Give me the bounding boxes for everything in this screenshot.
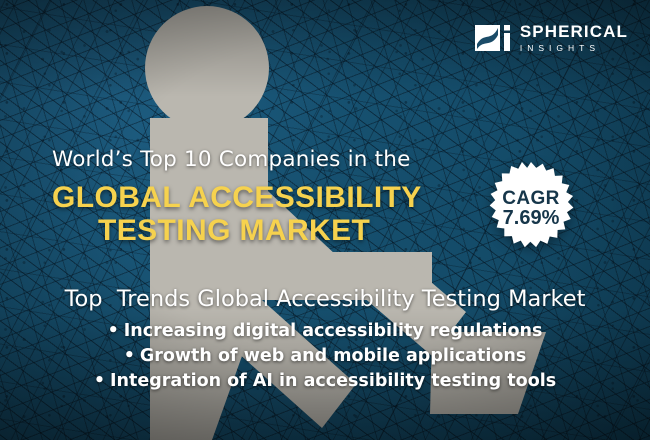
trends-bullet-list: •Increasing digital accessibility regula… (0, 321, 650, 391)
list-item-label: Integration of AI in accessibility testi… (110, 371, 556, 391)
headline-title-line1: GLOBAL ACCESSIBILITY (52, 181, 422, 214)
brand-subtitle: INSIGHTS (520, 44, 628, 53)
list-item-label: Increasing digital accessibility regulat… (124, 321, 543, 341)
brand-logo[interactable]: SPHERICAL INSIGHTS (475, 22, 628, 54)
brand-logo-text: SPHERICAL INSIGHTS (520, 23, 628, 53)
headline-block: World’s Top 10 Companies in the GLOBAL A… (52, 148, 472, 248)
trends-section: Top Trends Global Accessibility Testing … (0, 286, 650, 391)
list-item: •Integration of AI in accessibility test… (94, 371, 556, 391)
list-item: •Increasing digital accessibility regula… (108, 321, 543, 341)
cagr-badge-text: CAGR 7.69% (484, 162, 578, 256)
list-item-label: Growth of web and mobile applications (140, 346, 526, 366)
cagr-value: 7.69% (503, 208, 560, 229)
headline-title: GLOBAL ACCESSIBILITY TESTING MARKET (52, 181, 472, 248)
cagr-label: CAGR (502, 189, 560, 209)
headline-kicker: World’s Top 10 Companies in the (52, 148, 472, 172)
cagr-badge: CAGR 7.69% (484, 162, 578, 256)
infographic-poster: SPHERICAL INSIGHTS World’s Top 10 Compan… (0, 0, 650, 440)
list-item: •Growth of web and mobile applications (124, 346, 527, 366)
bullet-marker-icon: • (108, 321, 119, 341)
brand-name: SPHERICAL (520, 23, 628, 40)
bullet-marker-icon: • (94, 371, 105, 391)
headline-title-line2: TESTING MARKET (52, 214, 472, 248)
trends-heading: Top Trends Global Accessibility Testing … (0, 286, 650, 312)
spherical-logo-mark-icon (475, 22, 511, 54)
bullet-marker-icon: • (124, 346, 135, 366)
